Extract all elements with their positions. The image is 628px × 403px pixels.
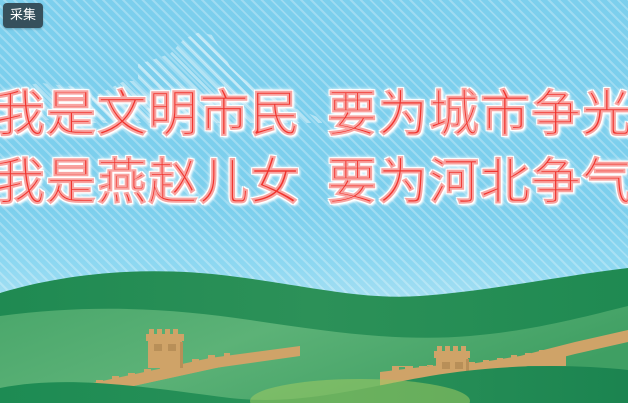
slogan-line-1-right: 要为城市争光 (327, 86, 628, 142)
slogan-line-2-left: 我是燕赵儿女 (0, 154, 301, 210)
slogan-line-1-left: 我是文明市民 (0, 86, 301, 142)
capture-button[interactable]: 采集 (3, 3, 43, 28)
banner-canvas: 我是文明市民 要为城市争光 我是燕赵儿女 要为河北争气 采集 (0, 0, 628, 403)
hills-illustration (0, 238, 628, 403)
slogan-line-2-right: 要为河北争气 (327, 154, 628, 210)
slogan-block: 我是文明市民 要为城市争光 我是燕赵儿女 要为河北争气 (0, 86, 628, 210)
slogan-line-2: 我是燕赵儿女 要为河北争气 (0, 154, 628, 210)
slogan-line-1: 我是文明市民 要为城市争光 (0, 86, 628, 142)
